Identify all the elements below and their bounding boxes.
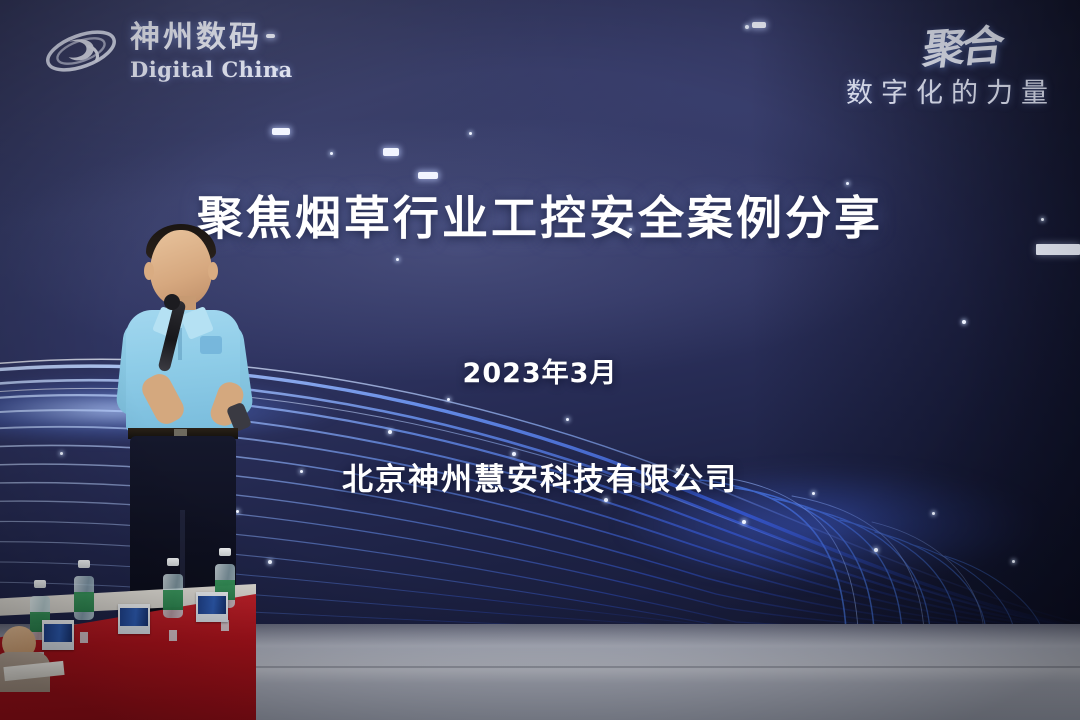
particle: [1012, 560, 1015, 563]
particle: [566, 418, 569, 421]
brand-english-name: Digital China: [130, 59, 293, 80]
light-dash: [418, 172, 438, 179]
particle: [388, 430, 392, 434]
particle: [742, 520, 746, 524]
speaker-ear-right: [208, 262, 218, 280]
particle: [745, 25, 749, 29]
particle: [396, 258, 399, 261]
microphone-head: [164, 294, 180, 310]
light-dash: [272, 128, 290, 135]
brand-chinese-name: 神州数码: [130, 23, 293, 53]
name-card: [118, 604, 150, 634]
digital-china-swirl-icon: [42, 20, 120, 82]
speaker-ear-left: [144, 262, 154, 280]
particle: [330, 152, 333, 155]
particle: [447, 398, 450, 401]
particle: [932, 512, 935, 515]
particle: [962, 320, 966, 324]
particle: [874, 548, 878, 552]
name-card: [196, 592, 228, 622]
speaker-head: [150, 230, 212, 306]
light-dash: [752, 22, 766, 28]
water-bottle: [74, 560, 94, 620]
event-logo: 聚合 数字化的力量: [846, 14, 1056, 110]
particle: [268, 560, 272, 564]
name-card: [42, 620, 74, 650]
water-bottle: [163, 558, 183, 618]
light-dash: [383, 148, 399, 156]
speaker-shirt-logo: [200, 336, 222, 354]
particle: [469, 132, 472, 135]
conference-photo: 神州数码 Digital China 聚合 数字化的力量 聚焦烟草行业工控安全案…: [0, 0, 1080, 720]
digital-china-logo: 神州数码 Digital China: [42, 20, 293, 82]
event-slogan: 数字化的力量: [846, 71, 1056, 110]
event-calligraphy: 聚合: [920, 11, 1004, 77]
